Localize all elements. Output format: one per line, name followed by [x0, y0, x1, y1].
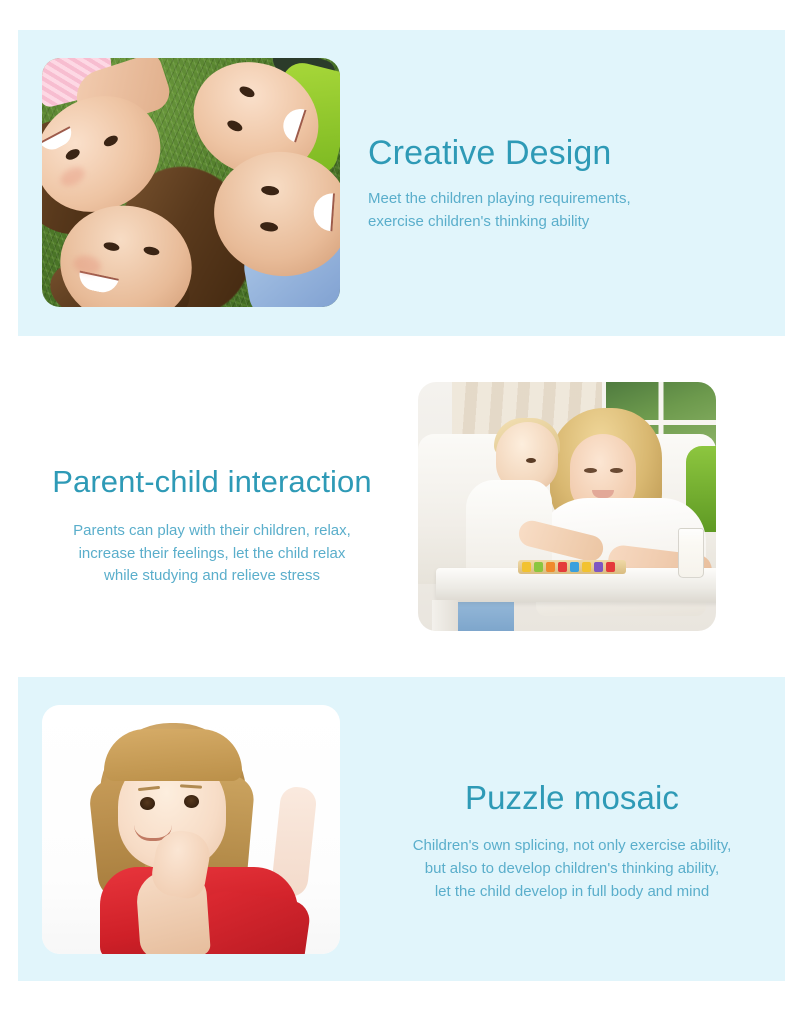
eye	[261, 185, 280, 196]
eye	[584, 468, 597, 473]
puzzle-piece	[582, 562, 591, 572]
eye	[610, 468, 623, 473]
eye	[226, 118, 244, 133]
body-line: Children's own splicing, not only exerci…	[360, 835, 784, 858]
heading-parent-child-interaction: Parent-child interaction	[16, 465, 408, 500]
puzzle-piece	[594, 562, 603, 572]
image-four-children-on-grass	[42, 58, 340, 307]
puzzle-piece	[606, 562, 615, 572]
eyebrow	[180, 784, 202, 789]
body-line: let the child develop in full body and m…	[360, 881, 784, 904]
eye	[143, 245, 160, 256]
text-block-creative-design: Creative Design Meet the children playin…	[368, 134, 768, 234]
eye	[102, 133, 119, 148]
promo-feature-page: Creative Design Meet the children playin…	[0, 0, 800, 1011]
text-block-parent-child-interaction: Parent-child interaction Parents can pla…	[16, 465, 408, 588]
body-line: Meet the children playing requirements,	[368, 188, 768, 211]
eye	[64, 147, 81, 162]
heading-creative-design: Creative Design	[368, 134, 768, 172]
body-line: but also to develop children's thinking …	[360, 858, 784, 881]
image-mother-and-toddler	[418, 382, 716, 631]
eye	[184, 795, 199, 808]
girl-bangs	[104, 729, 242, 781]
body-line: Parents can play with their children, re…	[16, 520, 408, 543]
puzzle-board	[518, 560, 626, 574]
puzzle-piece	[546, 562, 555, 572]
table-leg	[432, 600, 458, 631]
blush	[57, 163, 87, 189]
mouth	[76, 271, 119, 296]
mouth	[312, 192, 335, 231]
mouth	[279, 105, 307, 143]
text-block-puzzle-mosaic: Puzzle mosaic Children's own splicing, n…	[360, 780, 784, 903]
eye	[140, 797, 155, 810]
eyebrow	[138, 786, 160, 791]
puzzle-piece	[558, 562, 567, 572]
mouth	[592, 490, 614, 498]
puzzle-piece	[522, 562, 531, 572]
puzzle-piece	[534, 562, 543, 572]
image-thoughtful-girl	[42, 705, 340, 954]
body-line: increase their feelings, let the child r…	[16, 543, 408, 566]
eye	[260, 221, 279, 232]
eye	[526, 458, 536, 463]
blush	[72, 253, 103, 276]
puzzle-piece	[570, 562, 579, 572]
heading-puzzle-mosaic: Puzzle mosaic	[360, 780, 784, 817]
body-line: while studying and relieve stress	[16, 565, 408, 588]
body-line: exercise children's thinking ability	[368, 211, 768, 234]
eye	[238, 84, 256, 99]
glass-of-milk	[678, 528, 704, 578]
eye	[103, 241, 120, 252]
